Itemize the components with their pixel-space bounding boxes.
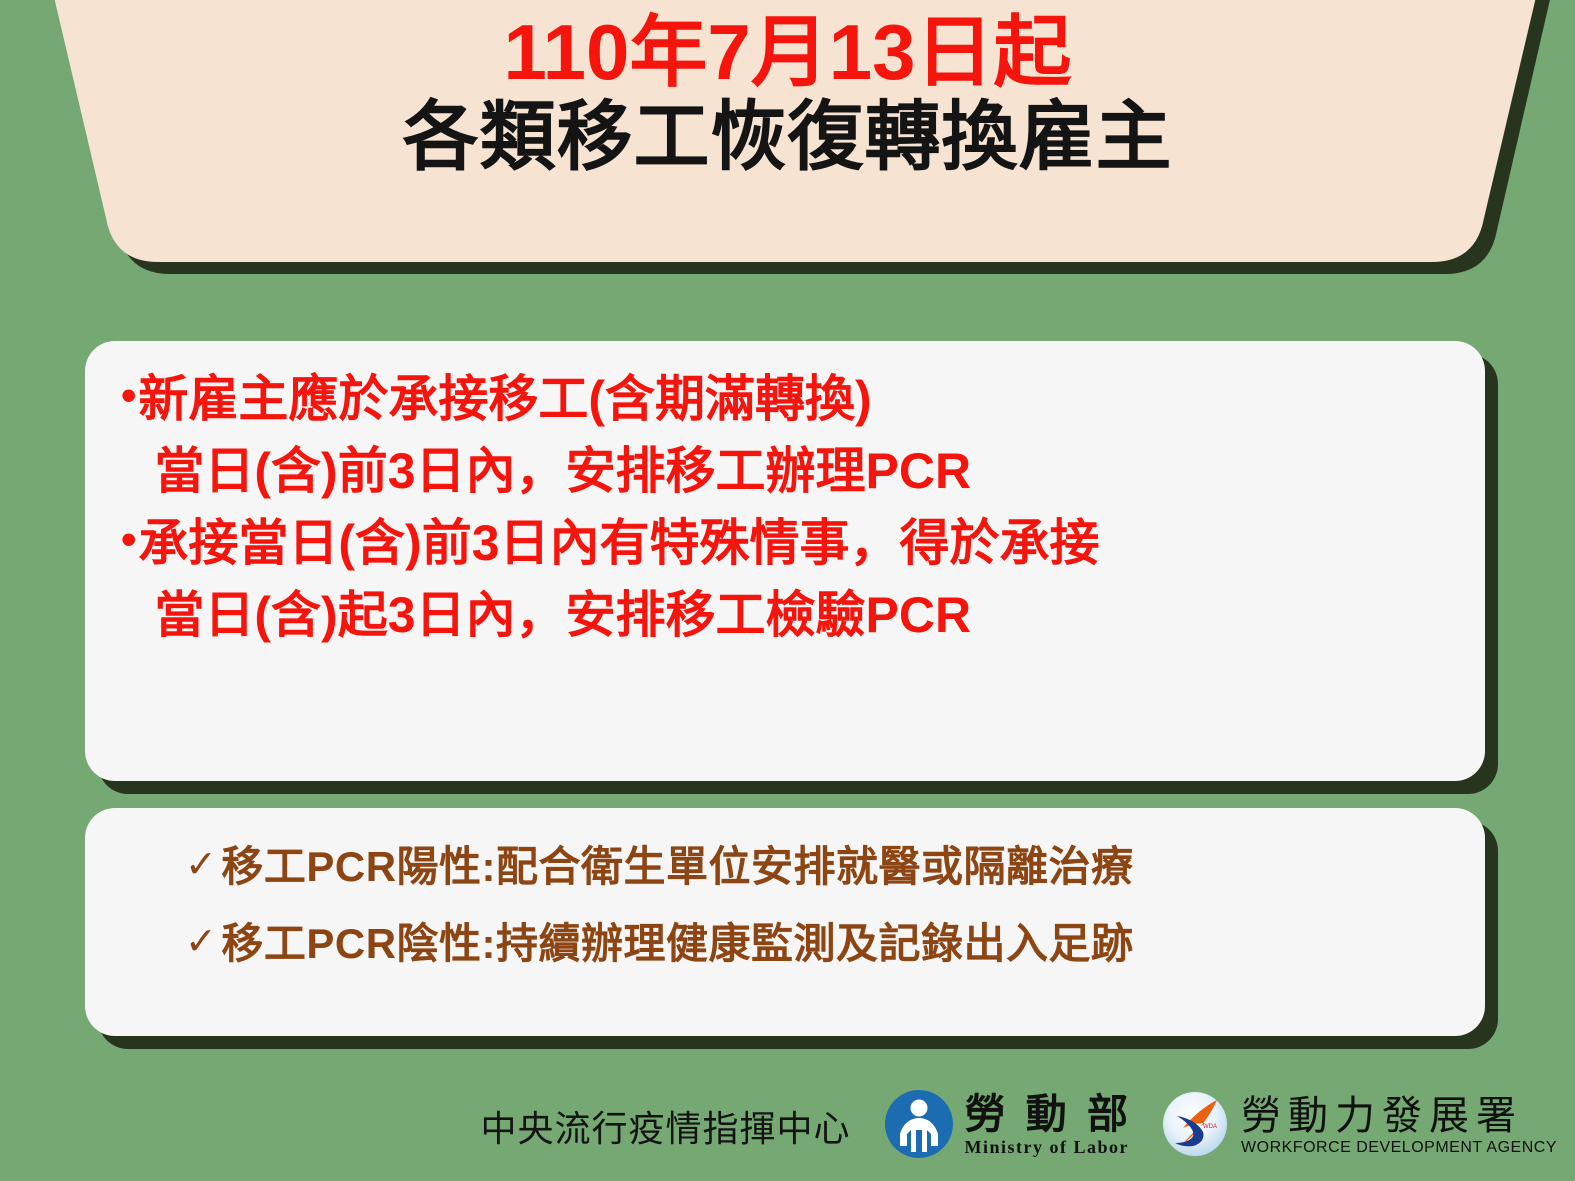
list-item: • 新雇主應於承接移工(含期滿轉換) 當日(含)前3日內，安排移工辦理PCR bbox=[121, 363, 1481, 507]
header-text-group: 110年7月13日起 各類移工恢復轉換雇主 bbox=[0, 10, 1575, 182]
list-item-line-2: 當日(含)前3日內，安排移工辦理PCR bbox=[138, 435, 1481, 507]
header-banner: 110年7月13日起 各類移工恢復轉換雇主 bbox=[0, 0, 1575, 286]
list-item-line-1: 新雇主應於承接移工(含期滿轉換) bbox=[138, 371, 871, 427]
logo-name-en: Ministry of Labor bbox=[965, 1138, 1134, 1158]
workforce-development-agency-wordmark: 勞動力發展署 WORKFORCE DEVELOPMENT AGENCY bbox=[1241, 1096, 1557, 1156]
footer: 中央流行疫情指揮中心 勞 動 部 Ministry of Labor bbox=[0, 1072, 1575, 1180]
pcr-result-list: ✓ 移工PCR陽性:配合衛生單位安排就醫或隔離治療 ✓ 移工PCR陰性:持續辦理… bbox=[185, 841, 1465, 995]
svg-text:WDA: WDA bbox=[1203, 1124, 1217, 1130]
workforce-development-agency-logo: WDA 勞動力發展署 WORKFORCE DEVELOPMENT AGENCY bbox=[1159, 1088, 1557, 1165]
list-item: ✓ 移工PCR陽性:配合衛生單位安排就醫或隔離治療 bbox=[185, 841, 1465, 892]
logo-name-en: WORKFORCE DEVELOPMENT AGENCY bbox=[1241, 1139, 1557, 1157]
cecc-label: 中央流行疫情指揮中心 bbox=[481, 1100, 851, 1152]
list-item-line-1: 承接當日(含)前3日內有特殊情事，得於承接 bbox=[138, 515, 1099, 571]
main-requirements-card: • 新雇主應於承接移工(含期滿轉換) 當日(含)前3日內，安排移工辦理PCR •… bbox=[85, 341, 1485, 781]
list-item-text: 新雇主應於承接移工(含期滿轉換) 當日(含)前3日內，安排移工辦理PCR bbox=[138, 363, 1481, 507]
page-title-subject: 各類移工恢復轉換雇主 bbox=[0, 94, 1575, 182]
bullet-dot-icon: • bbox=[121, 507, 138, 574]
page-title-date: 110年7月13日起 bbox=[0, 10, 1575, 94]
list-item: ✓ 移工PCR陰性:持續辦理健康監測及記錄出入足跡 bbox=[185, 918, 1465, 969]
requirements-list: • 新雇主應於承接移工(含期滿轉換) 當日(含)前3日內，安排移工辦理PCR •… bbox=[121, 363, 1481, 651]
logo-name-zh: 勞 動 部 bbox=[965, 1094, 1134, 1136]
check-icon: ✓ bbox=[185, 918, 221, 967]
list-item-label: 移工PCR陰性:持續辦理健康監測及記錄出入足跡 bbox=[221, 918, 1133, 969]
list-item: • 承接當日(含)前3日內有特殊情事，得於承接 當日(含)起3日內，安排移工檢驗… bbox=[121, 507, 1481, 651]
ministry-of-labor-wordmark: 勞 動 部 Ministry of Labor bbox=[965, 1094, 1134, 1158]
pcr-result-notes-card: ✓ 移工PCR陽性:配合衛生單位安排就醫或隔離治療 ✓ 移工PCR陰性:持續辦理… bbox=[85, 808, 1485, 1036]
list-item-text: 承接當日(含)前3日內有特殊情事，得於承接 當日(含)起3日內，安排移工檢驗PC… bbox=[138, 507, 1481, 651]
workforce-development-agency-emblem-icon: WDA bbox=[1159, 1088, 1231, 1165]
logo-name-zh: 勞動力發展署 bbox=[1241, 1096, 1557, 1137]
ministry-of-labor-logo: 勞 動 部 Ministry of Labor bbox=[883, 1088, 1134, 1165]
list-item-line-2: 當日(含)起3日內，安排移工檢驗PCR bbox=[138, 579, 1481, 651]
list-item-label: 移工PCR陽性:配合衛生單位安排就醫或隔離治療 bbox=[221, 841, 1133, 892]
bullet-dot-icon: • bbox=[121, 363, 138, 430]
ministry-of-labor-emblem-icon bbox=[883, 1088, 955, 1165]
check-icon: ✓ bbox=[185, 841, 221, 890]
infographic-poster: 110年7月13日起 各類移工恢復轉換雇主 • 新雇主應於承接移工(含期滿轉換)… bbox=[0, 0, 1575, 1181]
